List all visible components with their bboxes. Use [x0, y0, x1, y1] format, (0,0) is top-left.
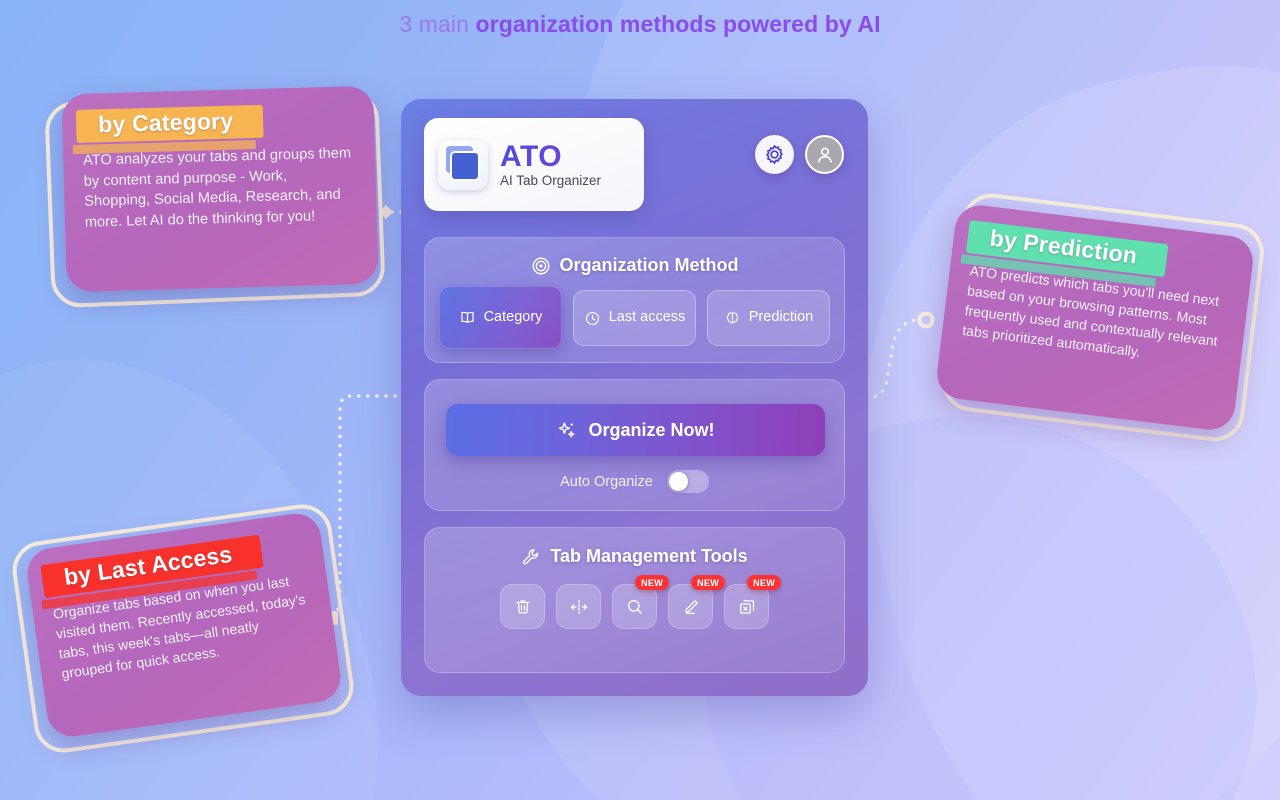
action-panel: Organize Now! Auto Organize: [424, 379, 845, 511]
sparkle-icon: [556, 420, 577, 441]
app-window-card: ATO AI Tab Organizer Organization: [401, 99, 868, 696]
tab-management-tools-title-label: Tab Management Tools: [550, 546, 747, 567]
callout-heading: by Category: [98, 108, 234, 138]
page-title-prefix: 3 main: [399, 11, 475, 37]
tool-split-tabs[interactable]: [556, 584, 601, 629]
new-badge: NEW: [691, 575, 725, 590]
auto-organize-row: Auto Organize: [425, 470, 844, 493]
tool-delete-tabs[interactable]: [500, 584, 545, 629]
brand-chip: ATO AI Tab Organizer: [424, 118, 644, 211]
brain-icon: [724, 310, 741, 327]
close-duplicate-icon: [737, 597, 757, 617]
search-icon: [625, 597, 645, 617]
method-option-category-label: Category: [484, 310, 543, 326]
user-avatar-icon: [814, 144, 836, 166]
settings-button[interactable]: [755, 135, 794, 174]
callout-card: by Category ATO analyzes your tabs and g…: [61, 86, 378, 293]
method-option-category[interactable]: Category: [439, 286, 562, 349]
method-option-prediction[interactable]: Prediction: [707, 290, 830, 346]
tool-buttons: NEW NEW NEW: [425, 584, 844, 629]
organization-method-title: Organization Method: [425, 255, 844, 276]
trash-icon: [513, 597, 533, 617]
clock-icon: [584, 310, 601, 327]
profile-button[interactable]: [805, 135, 844, 174]
callout-body: ATO analyzes your tabs and groups them b…: [83, 143, 357, 233]
split-horizontal-icon: [569, 597, 589, 617]
auto-organize-label: Auto Organize: [560, 474, 653, 490]
auto-organize-toggle[interactable]: [667, 470, 709, 493]
header-actions: [755, 135, 844, 174]
page-title: 3 main organization methods powered by A…: [0, 11, 1280, 38]
callout-by-prediction: by Prediction ATO predicts which tabs yo…: [945, 212, 1255, 427]
organize-now-label: Organize Now!: [588, 420, 714, 441]
wrench-icon: [521, 547, 541, 567]
book-icon: [459, 309, 476, 326]
tool-edit-tabs[interactable]: NEW: [668, 584, 713, 629]
brand-name: ATO: [500, 141, 601, 173]
callout-body: ATO predicts which tabs you'll need next…: [961, 261, 1229, 372]
callout-by-category: by Category ATO analyzes your tabs and g…: [52, 90, 382, 302]
new-badge: NEW: [635, 575, 669, 590]
tool-close-duplicates[interactable]: NEW: [724, 584, 769, 629]
tab-management-tools-title: Tab Management Tools: [425, 546, 844, 567]
method-option-prediction-label: Prediction: [749, 310, 813, 326]
auto-organize-toggle-knob: [669, 472, 688, 491]
tab-management-tools-panel: Tab Management Tools NE: [424, 527, 845, 673]
organization-method-title-label: Organization Method: [560, 255, 739, 276]
organization-method-panel: Organization Method Category Last access: [424, 237, 845, 363]
method-option-last-access[interactable]: Last access: [573, 290, 696, 346]
callout-by-last-access: by Last Access Organize tabs based on wh…: [24, 520, 344, 735]
new-badge: NEW: [747, 575, 781, 590]
target-icon: [531, 256, 551, 276]
ato-logo-icon: [438, 140, 488, 190]
page-title-emphasis: organization methods powered by AI: [476, 11, 881, 37]
brand-subtitle: AI Tab Organizer: [500, 173, 601, 188]
callout-card: by Prediction ATO predicts which tabs yo…: [934, 202, 1256, 432]
tool-search-tabs[interactable]: NEW: [612, 584, 657, 629]
organization-method-options: Category Last access Prediction: [439, 290, 830, 346]
callout-heading-brush: by Category: [82, 103, 250, 145]
method-option-last-access-label: Last access: [609, 310, 686, 326]
gear-icon: [764, 144, 785, 165]
organize-now-button[interactable]: Organize Now!: [446, 404, 825, 456]
pencil-icon: [681, 597, 701, 617]
